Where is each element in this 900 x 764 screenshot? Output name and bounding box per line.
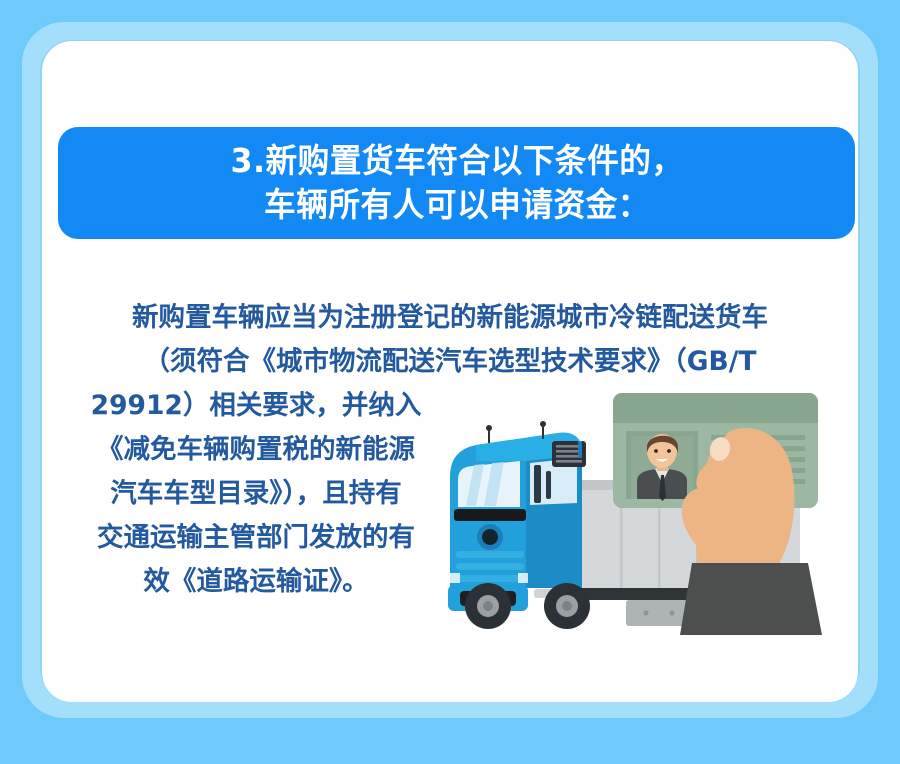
body-line-4: 《减免车辆购置税的新能源 <box>70 428 442 472</box>
body-line-6: 交通运输主管部门发放的有 <box>70 516 442 560</box>
white-content-card: 3.新购置货车符合以下条件的， 车辆所有人可以申请资金： 新购置车辆应当为注册登… <box>42 41 858 702</box>
heading-line-1: 3.新购置货车符合以下条件的， <box>230 139 683 183</box>
body-line-1: 新购置车辆应当为注册登记的新能源城市冷链配送货车 <box>70 296 830 340</box>
body-line-2: （须符合《城市物流配送汽车选型技术要求》（GB/T <box>70 340 830 384</box>
body-line-5: 汽车车型目录》），且持有 <box>70 472 442 516</box>
infographic-slide: 3.新购置货车符合以下条件的， 车辆所有人可以申请资金： 新购置车辆应当为注册登… <box>0 0 900 764</box>
section-heading-banner: 3.新购置货车符合以下条件的， 车辆所有人可以申请资金： <box>58 127 855 239</box>
body-line-7: 效《道路运输证》。 <box>70 560 442 604</box>
truck-and-license-illustration <box>430 385 858 635</box>
body-line-3: 29912）相关要求，并纳入 <box>70 384 442 428</box>
license-portrait-icon <box>631 434 693 501</box>
heading-line-2: 车辆所有人可以申请资金： <box>264 183 650 227</box>
truck-cab-icon <box>448 421 586 611</box>
